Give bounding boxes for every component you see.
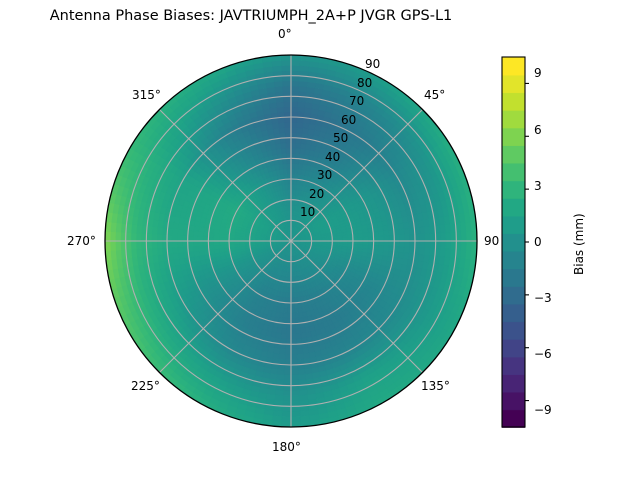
- radial-tick-90: 90: [365, 57, 380, 71]
- angular-tick-45: 45°: [424, 88, 445, 102]
- colorbar-tick-9: 9: [534, 66, 542, 80]
- colorbar-tick-minus6: −6: [534, 347, 552, 361]
- colorbar-axis-label: Bias (mm): [572, 213, 586, 275]
- colorbar-tick-0: 0: [534, 235, 542, 249]
- angular-tick-135: 135°: [421, 379, 450, 393]
- colorbar-tick-minus9: −9: [534, 403, 552, 417]
- radial-tick-60: 60: [341, 113, 356, 127]
- angular-tick-0: 0°: [278, 27, 292, 41]
- angular-tick-270: 270°: [67, 234, 96, 248]
- angular-tick-225: 225°: [131, 379, 160, 393]
- colorbar: [500, 50, 540, 450]
- radial-tick-10: 10: [300, 205, 315, 219]
- figure-canvas: Antenna Phase Biases: JAVTRIUMPH_2A+P JV…: [0, 0, 640, 480]
- colorbar-tick-3: 3: [534, 179, 542, 193]
- colorbar-tick-minus3: −3: [534, 291, 552, 305]
- polar-gridlines: [105, 55, 477, 427]
- angular-tick-90: 90: [484, 234, 499, 248]
- radial-tick-40: 40: [325, 150, 340, 164]
- radial-tick-50: 50: [333, 131, 348, 145]
- radial-tick-70: 70: [349, 94, 364, 108]
- colorbar-tick-6: 6: [534, 123, 542, 137]
- angular-tick-315: 315°: [132, 88, 161, 102]
- radial-tick-20: 20: [309, 187, 324, 201]
- radial-tick-30: 30: [317, 168, 332, 182]
- radial-tick-80: 80: [357, 76, 372, 90]
- angular-tick-180: 180°: [272, 440, 301, 454]
